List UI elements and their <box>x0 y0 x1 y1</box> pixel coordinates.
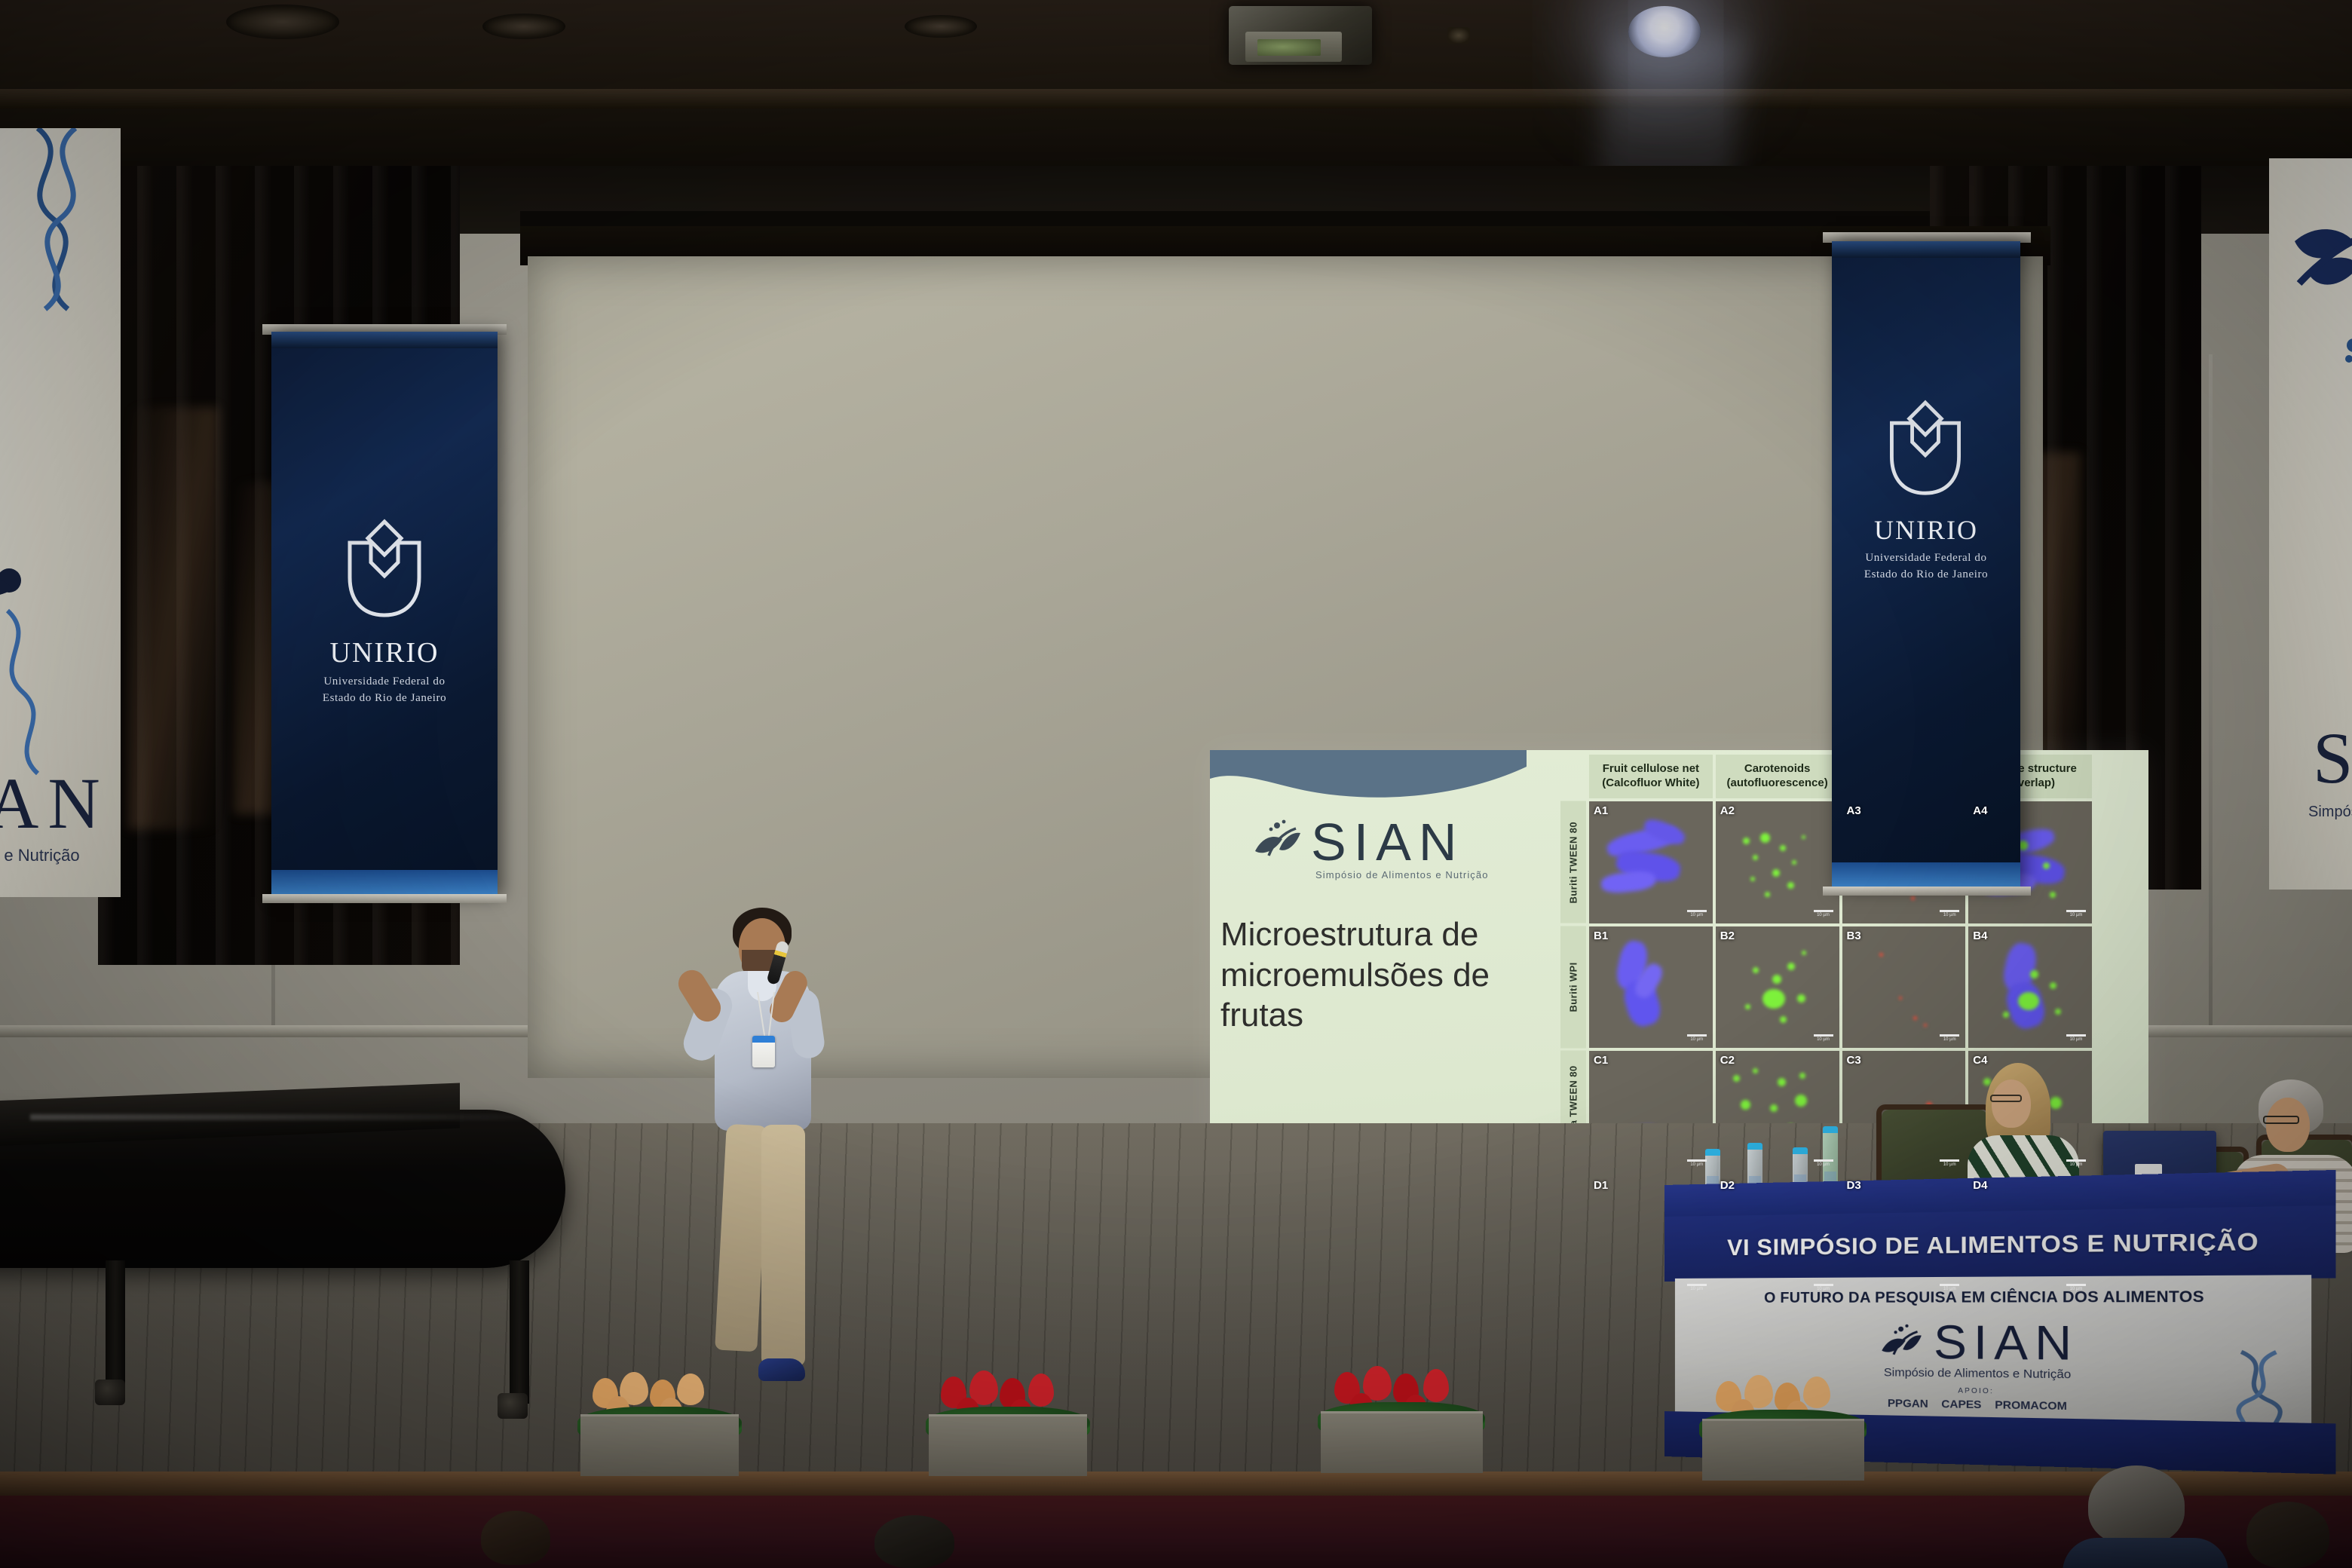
micrograph-cell: B1 10 µm <box>1589 926 1713 1049</box>
column-header: Carotenoids (autofluorescence) <box>1716 755 1839 798</box>
banner-pole <box>1823 887 2031 896</box>
cell-label: B2 <box>1720 929 1735 942</box>
flower <box>1028 1374 1054 1407</box>
micrograph-cell: B2 10 µm <box>1716 926 1839 1049</box>
micrograph-cell: B3 10 µm <box>1842 926 1966 1049</box>
row-header: Buriti TWEEN 80 <box>1560 801 1586 923</box>
scale-bar: 10 µm <box>1940 910 1959 917</box>
side-banner-letters: AN <box>0 761 109 845</box>
scale-bar: 10 µm <box>1940 1159 1959 1167</box>
scale-bar: 10 µm <box>1940 1034 1959 1042</box>
unirio-subtitle-line1: Universidade Federal do <box>1832 550 2020 567</box>
scale-bar: 10 µm <box>1814 1034 1833 1042</box>
flower-planter <box>1702 1374 1864 1481</box>
flower <box>1423 1369 1449 1402</box>
cell-label: D1 <box>1594 1179 1608 1192</box>
unirio-logo-icon <box>1879 400 1972 502</box>
flower-planter <box>580 1370 739 1476</box>
scale-bar: 10 µm <box>1814 1284 1833 1291</box>
auditorium-scene: SIAN Simpósio de Alimentos e Nutrição Mi… <box>0 0 2352 1568</box>
cell-label: A4 <box>1973 804 1987 817</box>
unirio-subtitle-line1: Universidade Federal do <box>271 674 498 691</box>
cell-label: D3 <box>1847 1179 1861 1192</box>
unirio-subtitle: Universidade Federal do Estado do Rio de… <box>1832 550 2020 583</box>
side-banner-left: AN os e Nutrição <box>0 128 121 897</box>
piano-caster <box>95 1380 125 1405</box>
column-header-line1: Fruit cellulose net <box>1603 762 1699 776</box>
flower-planter <box>1321 1366 1483 1473</box>
flower <box>677 1374 704 1405</box>
side-banner-subtitle: os e Nutrição <box>0 846 80 865</box>
leaf-icon <box>1876 1320 1925 1364</box>
flower-planter <box>929 1370 1087 1476</box>
ceiling-vent <box>482 14 565 39</box>
audience-member <box>2066 1465 2231 1568</box>
column-header-line2: (Calcofluor White) <box>1602 776 1699 791</box>
glasses-icon <box>2263 1116 2299 1124</box>
sponsor-logo: PROMACOM <box>1995 1398 2067 1413</box>
side-banner-subtitle: Simpósio <box>2308 804 2352 821</box>
planter-pot <box>1321 1411 1483 1473</box>
ceiling-vent <box>226 5 339 39</box>
conference-badge <box>752 1036 775 1067</box>
unirio-name: UNIRIO <box>271 636 498 669</box>
orchestra-pit <box>0 1496 2352 1568</box>
event-tagline: O FUTURO DA PESQUISA EM CIÊNCIA DOS ALIM… <box>1675 1288 2311 1307</box>
side-banner-right: S Simpósio <box>2269 158 2352 890</box>
micrograph-cell: A1 10 µm <box>1589 801 1713 923</box>
event-title: VI SIMPÓSIO DE ALIMENTOS E NUTRIÇÃO <box>1727 1229 2259 1262</box>
cell-label: C4 <box>1973 1054 1987 1067</box>
sian-logo-subtitle: Simpósio de Alimentos e Nutrição <box>1315 869 1489 880</box>
panelist-head <box>1992 1080 2031 1128</box>
unirio-banner-left: UNIRIO Universidade Federal do Estado do… <box>271 332 498 897</box>
presenter <box>678 905 844 1432</box>
cell-label: A2 <box>1720 804 1735 817</box>
unirio-subtitle: Universidade Federal do Estado do Rio de… <box>271 674 498 707</box>
piano-caster <box>498 1393 528 1419</box>
cell-label: C1 <box>1594 1054 1608 1067</box>
sian-logo: SIAN <box>1249 816 1464 866</box>
sian-logo-text: SIAN <box>1311 818 1464 866</box>
scale-bar: 10 µm <box>2066 1159 2086 1167</box>
ceiling-projector-icon <box>1229 6 1372 65</box>
scale-bar: 10 µm <box>1814 1159 1833 1167</box>
micrograph-cell: A2 10 µm <box>1716 801 1839 923</box>
piano-leg <box>510 1260 529 1404</box>
stage-edge <box>0 1472 2352 1497</box>
leaf-icon <box>1249 816 1305 866</box>
panelist-head <box>2266 1098 2310 1152</box>
cell-label: A1 <box>1594 804 1608 817</box>
planter-pot <box>929 1414 1087 1476</box>
glasses-icon <box>1990 1095 2022 1102</box>
row-header: Buriti WPI <box>1560 926 1586 1049</box>
sponsor-logo: CAPES <box>1941 1398 1981 1411</box>
sponsor-logo: PPGAN <box>1888 1396 1928 1410</box>
scale-bar: 10 µm <box>2066 910 2086 917</box>
planter-pot <box>580 1414 739 1476</box>
micrograph-cell: B4 10 µm <box>1968 926 2092 1049</box>
cell-label: B1 <box>1594 929 1608 942</box>
audience-member <box>2231 1502 2352 1568</box>
ceiling-vent <box>905 15 977 38</box>
unirio-subtitle-line2: Estado do Rio de Janeiro <box>271 691 498 707</box>
unirio-banner-right: UNIRIO Universidade Federal do Estado do… <box>1832 241 2020 890</box>
cell-label: D2 <box>1720 1179 1735 1192</box>
scale-bar: 10 µm <box>1814 910 1833 917</box>
presenter-shoe <box>758 1358 805 1381</box>
cell-label: C3 <box>1847 1054 1861 1067</box>
piano-leg <box>106 1260 125 1389</box>
planter-pot <box>1702 1419 1864 1481</box>
presenter-leg-right <box>761 1125 805 1366</box>
slide-wave-decoration <box>1210 750 1527 800</box>
event-title-band: VI SIMPÓSIO DE ALIMENTOS E NUTRIÇÃO <box>1664 1205 2336 1282</box>
side-banner-letters: S <box>2313 716 2352 800</box>
unirio-name: UNIRIO <box>1832 514 2020 546</box>
cell-label: A3 <box>1847 804 1861 817</box>
unirio-logo-icon <box>336 519 433 624</box>
cell-label: B4 <box>1973 929 1987 942</box>
column-header-line2: (autofluorescence) <box>1727 776 1828 791</box>
cell-label: D4 <box>1973 1179 1987 1192</box>
sian-logo-text: SIAN <box>1934 1315 2079 1370</box>
ceiling <box>0 0 2352 188</box>
scale-bar: 10 µm <box>1687 1034 1707 1042</box>
scale-bar: 10 µm <box>1687 1284 1707 1291</box>
ceiling-fixture-icon <box>1447 27 1470 44</box>
column-header: Fruit cellulose net (Calcofluor White) <box>1589 755 1713 798</box>
scale-bar: 10 µm <box>2066 1284 2086 1291</box>
scale-bar: 10 µm <box>2066 1034 2086 1042</box>
cell-label: B3 <box>1847 929 1861 942</box>
banner-pole <box>262 894 507 903</box>
dna-helix-icon <box>2223 1349 2306 1433</box>
scale-bar: 10 µm <box>1687 1159 1707 1167</box>
audience-member <box>859 1515 972 1568</box>
unirio-subtitle-line2: Estado do Rio de Janeiro <box>1832 567 2020 583</box>
piano-highlight <box>30 1114 528 1120</box>
spotlight-icon <box>1628 6 1701 57</box>
scale-bar: 10 µm <box>1940 1284 1959 1291</box>
slide-title: Microestrutura de microemulsões de fruta… <box>1220 914 1552 1036</box>
audience-member <box>467 1511 565 1568</box>
scale-bar: 10 µm <box>1687 910 1707 917</box>
column-header-line1: Carotenoids <box>1744 762 1811 776</box>
flower <box>1803 1377 1830 1408</box>
cell-label: C2 <box>1720 1054 1735 1067</box>
